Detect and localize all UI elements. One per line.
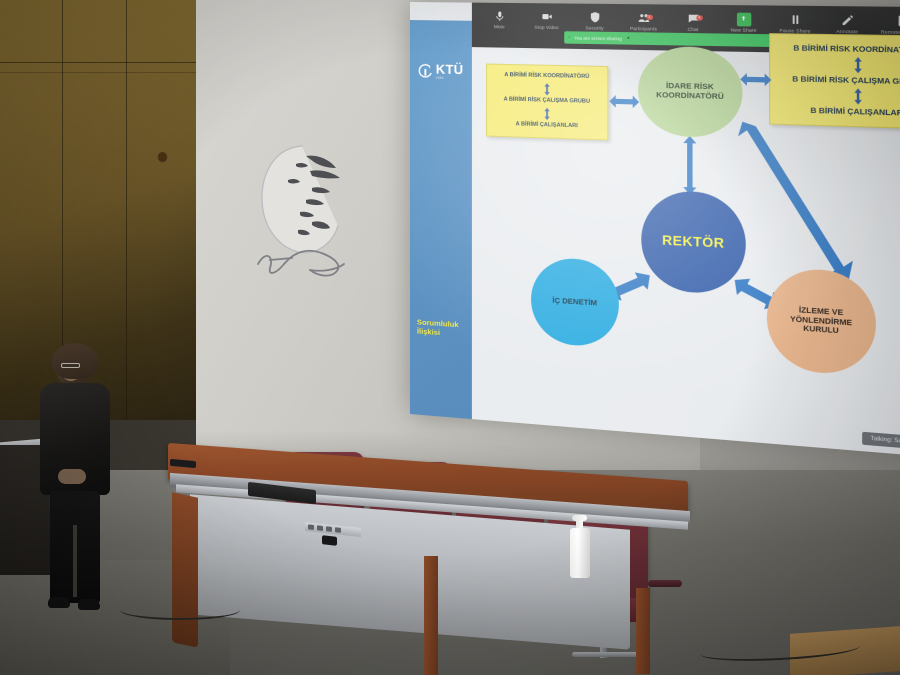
- arrow-idare-to-izleme: [736, 121, 858, 286]
- double-arrow-vertical-icon: [852, 88, 862, 104]
- ktu-sub: 1955: [436, 77, 464, 81]
- ataturk-relief-icon: [240, 138, 365, 283]
- presenter: [30, 345, 122, 625]
- double-arrow-vertical-icon: [543, 108, 550, 120]
- projection-screen: Mute Stop Video Security: [410, 2, 900, 458]
- ktu-name: KTÜ: [436, 63, 464, 77]
- arrow-unit-a-to-idare: [609, 93, 639, 110]
- conference-room-scene: Mute Stop Video Security: [0, 0, 900, 675]
- conference-table-side: [172, 492, 198, 648]
- unit-b-line-3: B BİRİMİ ÇALIŞANLARI: [810, 107, 900, 118]
- diagram-canvas: A BİRİMİ RİSK KOORDİNATÖRÜ A BİRİMİ RİSK…: [472, 21, 900, 458]
- node-izleme-ve-yonlendirme-kurulu: İZLEME VE YÖNLENDİRME KURULU: [767, 267, 876, 377]
- unit-a-line-1: A BİRİMİ RİSK KOORDİNATÖRÜ: [504, 73, 589, 81]
- unit-b-line-2: B BİRİMİ RİSK ÇALIŞMA GRUBU: [792, 75, 900, 87]
- slide-sidebar-caption: Sorumluluk İlişkisi: [417, 317, 459, 339]
- node-label: İDARE RİSK KOORDİNATÖRÜ: [656, 82, 724, 102]
- double-arrow-vertical-icon: [543, 83, 550, 95]
- double-arrow-vertical-icon: [852, 57, 862, 73]
- arrow-idare-to-unit-b: [740, 71, 771, 89]
- unit-a-line-2: A BİRİMİ RİSK ÇALIŞMA GRUBU: [504, 97, 590, 105]
- table-leg: [424, 556, 438, 675]
- floor-cable: [120, 600, 240, 620]
- ktu-logo: KTÜ 1955: [418, 62, 464, 80]
- node-idare-risk-koordinatoru: İDARE RİSK KOORDİNATÖRÜ: [638, 46, 742, 139]
- unit-b-box: B BİRİMİ RİSK KOORDİNATÖRÜ B BİRİMİ RİSK…: [769, 33, 900, 130]
- unit-a-box: A BİRİMİ RİSK KOORDİNATÖRÜ A BİRİMİ RİSK…: [486, 64, 608, 141]
- chat-badge: 4: [696, 15, 703, 20]
- ktu-emblem-icon: [418, 63, 433, 78]
- table-leg: [636, 588, 650, 674]
- presentation-slide: KTÜ 1955 Sorumluluk İlişkisi A BİRİMİ Rİ…: [410, 20, 900, 458]
- slide-sidebar: KTÜ 1955 Sorumluluk İlişkisi: [410, 20, 472, 419]
- node-label: İZLEME VE YÖNLENDİRME KURULU: [790, 305, 852, 337]
- node-rektor: REKTÖR: [641, 189, 746, 295]
- unit-a-line-3: A BİRİMİ ÇALIŞANLARI: [516, 122, 578, 130]
- arrow-idare-to-rektor: [681, 136, 698, 195]
- node-label: REKTÖR: [662, 232, 724, 251]
- remote-control: [322, 535, 337, 546]
- eyeglasses-icon: [61, 363, 80, 368]
- hand-sanitizer-bottle: [568, 512, 592, 578]
- door-knob: [158, 152, 167, 161]
- node-label: İÇ DENETİM: [552, 296, 597, 308]
- unit-b-line-1: B BİRİMİ RİSK KOORDİNATÖRÜ: [793, 44, 900, 55]
- participants-badge: 1: [646, 14, 652, 19]
